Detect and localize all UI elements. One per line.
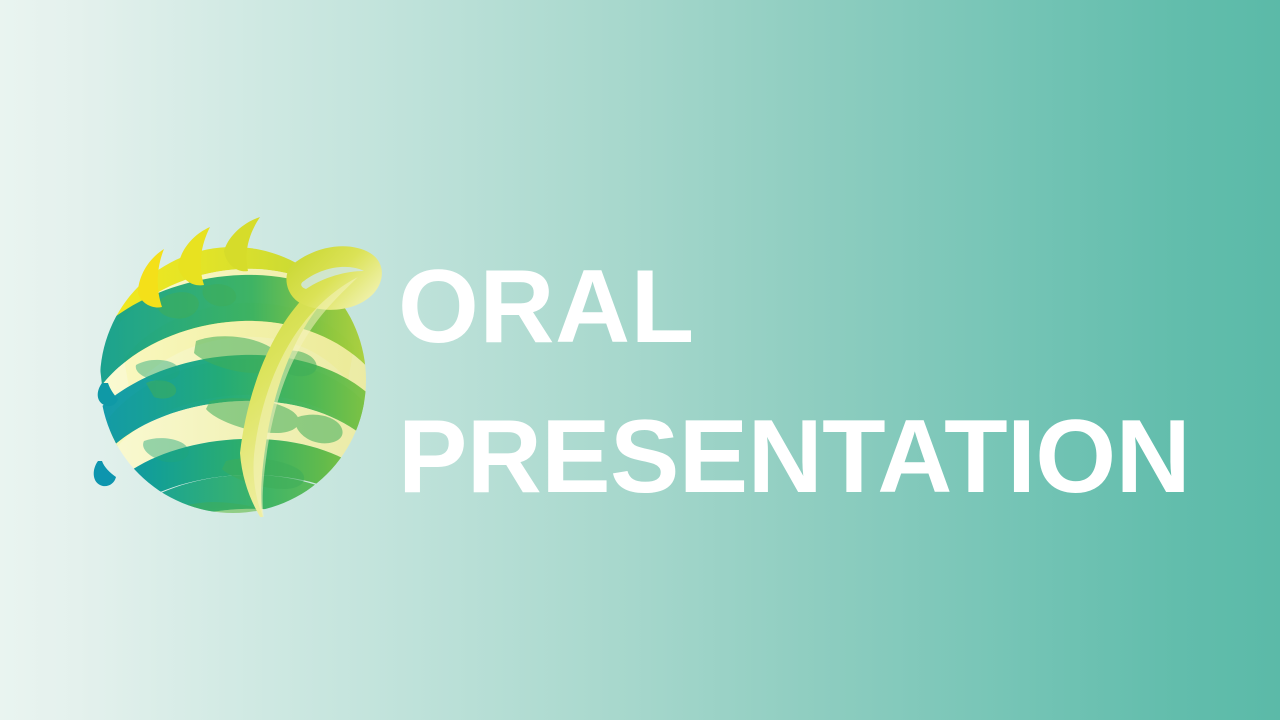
title-line-presentation: PRESENTATION	[398, 382, 1228, 532]
globe-leaf-logo	[92, 205, 384, 517]
title-line-oral: ORAL	[398, 232, 1228, 382]
page-title: ORAL PRESENTATION	[398, 232, 1228, 532]
presentation-slide: ORAL PRESENTATION	[0, 0, 1280, 720]
